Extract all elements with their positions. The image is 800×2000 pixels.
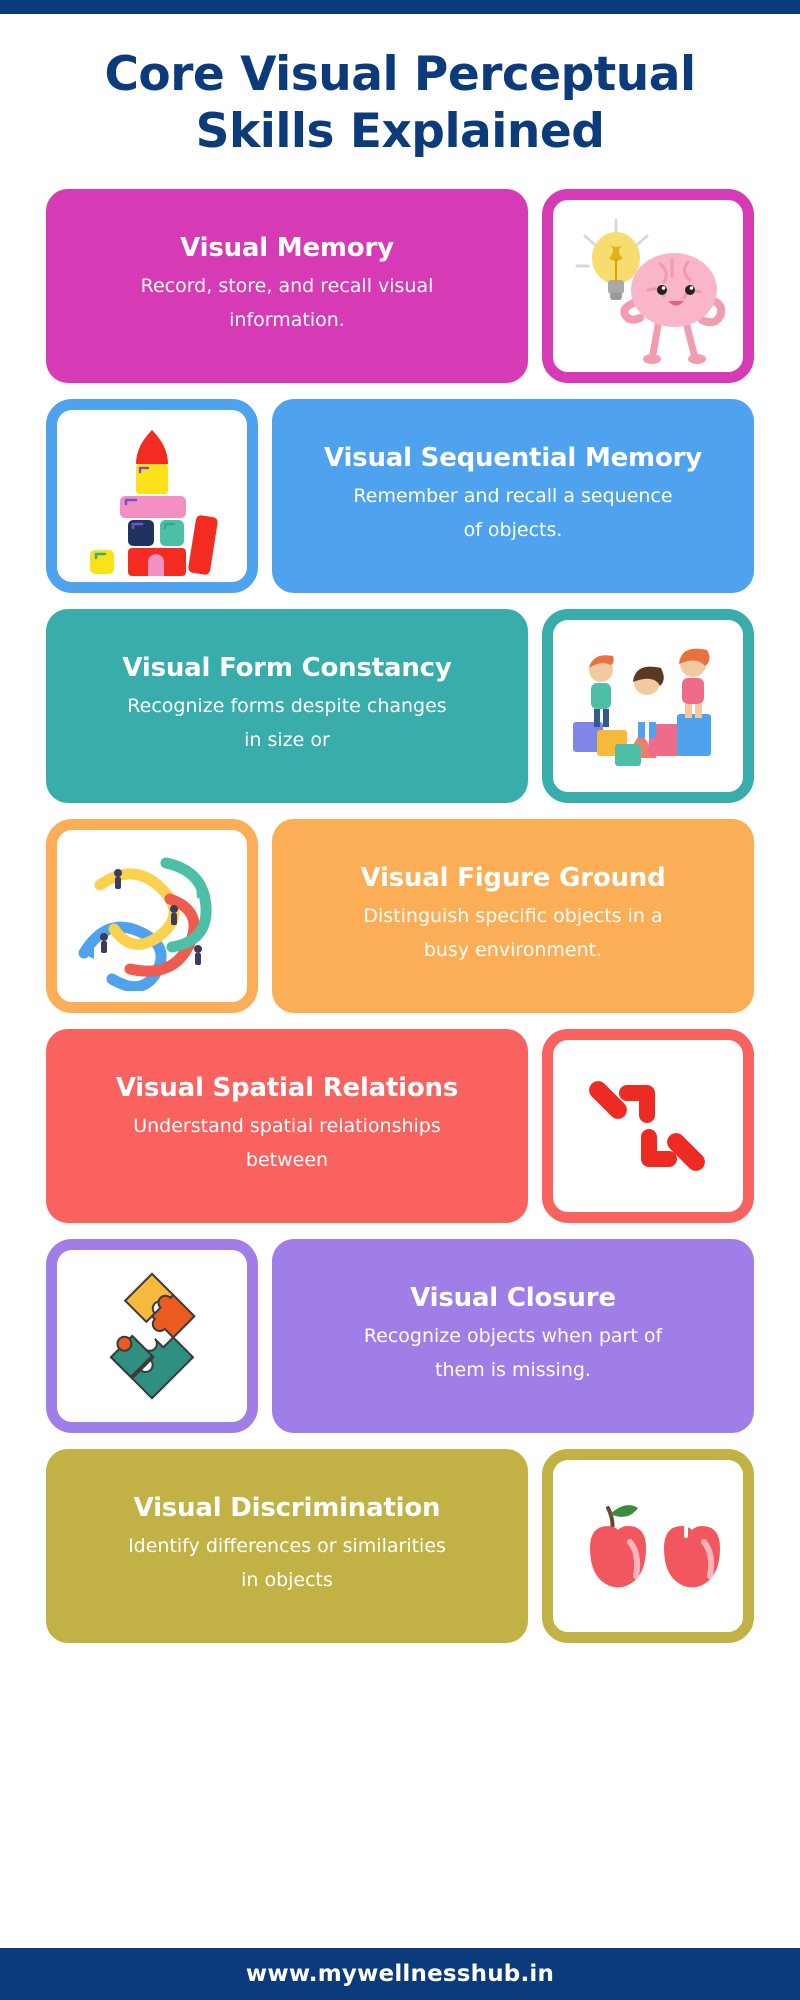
skill-title: Visual Memory xyxy=(180,234,394,264)
skill-text-panel: Visual Memory Record, store, and recall … xyxy=(46,189,528,383)
skill-text-panel: Visual Figure Ground Distinguish specifi… xyxy=(272,819,754,1013)
skill-description: Recognize objects when part of them is m… xyxy=(348,1320,678,1388)
skill-card-visual-spatial-relations: Visual Spatial Relations Understand spat… xyxy=(46,1029,754,1223)
skill-text-panel: Visual Spatial Relations Understand spat… xyxy=(46,1029,528,1223)
skill-text-panel: Visual Closure Recognize objects when pa… xyxy=(272,1239,754,1433)
children-with-shapes-icon xyxy=(565,626,731,786)
infographic-page: Core Visual Perceptual Skills Explained … xyxy=(0,0,800,2000)
apples-icon xyxy=(568,1486,728,1606)
skill-title: Visual Figure Ground xyxy=(360,864,665,894)
skill-title: Visual Form Constancy xyxy=(122,654,451,684)
skill-title: Visual Discrimination xyxy=(134,1494,441,1524)
toy-blocks-icon xyxy=(72,416,232,576)
skill-description: Distinguish specific objects in a busy e… xyxy=(348,900,678,968)
brain-lightbulb-icon xyxy=(564,202,732,370)
skill-text-panel: Visual Discrimination Identify differenc… xyxy=(46,1449,528,1643)
tangled-paths-maze-illustration xyxy=(46,819,258,1013)
children-shapes-illustration xyxy=(542,609,754,803)
winding-paths-icon xyxy=(70,841,234,991)
skill-title: Visual Sequential Memory xyxy=(324,444,702,474)
skill-card-visual-discrimination: Visual Discrimination Identify differenc… xyxy=(46,1449,754,1643)
footer-bar: www.mywellnesshub.in xyxy=(0,1948,800,2000)
top-accent-bar xyxy=(0,0,800,14)
skill-description: Recognize forms despite changes in size … xyxy=(122,690,452,758)
two-apples-illustration xyxy=(542,1449,754,1643)
skill-title: Visual Closure xyxy=(410,1284,616,1314)
jigsaw-puzzle-pieces-illustration xyxy=(46,1239,258,1433)
skill-card-visual-sequential-memory: Visual Sequential Memory Remember and re… xyxy=(46,399,754,593)
skill-title: Visual Spatial Relations xyxy=(116,1074,458,1104)
two-arrows-pointing-inward-icon xyxy=(583,1061,713,1191)
skill-text-panel: Visual Sequential Memory Remember and re… xyxy=(272,399,754,593)
skill-description: Identify differences or similarities in … xyxy=(122,1530,452,1598)
converging-arrows-icon xyxy=(542,1029,754,1223)
skill-card-visual-form-constancy: Visual Form Constancy Recognize forms de… xyxy=(46,609,754,803)
skill-card-visual-memory: Visual Memory Record, store, and recall … xyxy=(46,189,754,383)
website-url[interactable]: www.mywellnesshub.in xyxy=(246,1961,554,1987)
skill-text-panel: Visual Form Constancy Recognize forms de… xyxy=(46,609,528,803)
skill-description: Remember and recall a sequence of object… xyxy=(348,480,678,548)
skill-description: Understand spatial relationships between xyxy=(122,1110,452,1178)
skill-card-list: Visual Memory Record, store, and recall … xyxy=(0,171,800,1643)
page-title: Core Visual Perceptual Skills Explained xyxy=(0,14,800,171)
puzzle-pieces-icon xyxy=(74,1258,230,1414)
skill-card-visual-closure: Visual Closure Recognize objects when pa… xyxy=(46,1239,754,1433)
building-blocks-tower-illustration xyxy=(46,399,258,593)
brain-lightbulb-illustration xyxy=(542,189,754,383)
skill-card-visual-figure-ground: Visual Figure Ground Distinguish specifi… xyxy=(46,819,754,1013)
title-line-2: Skills Explained xyxy=(40,103,760,160)
skill-description: Record, store, and recall visual informa… xyxy=(122,270,452,338)
title-line-1: Core Visual Perceptual xyxy=(40,46,760,103)
